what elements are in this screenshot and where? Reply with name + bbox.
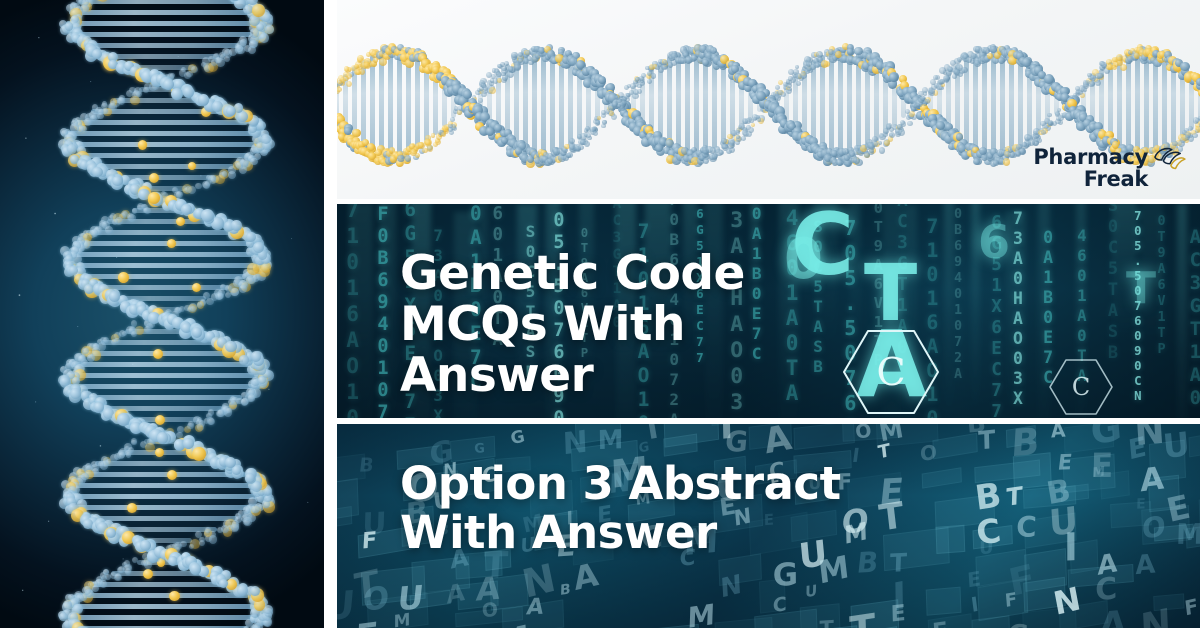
panel-dna-horizontal: Pharmacy Freak xyxy=(336,0,1200,200)
dna-helix-vertical xyxy=(0,0,324,628)
glyph-0: 0 xyxy=(784,227,823,292)
logo-line-1: Pharmacy xyxy=(1033,145,1148,169)
glyph-6: 6 xyxy=(978,215,1010,269)
gutter-vertical xyxy=(324,0,337,628)
logo-line-2: Freak xyxy=(1033,169,1148,190)
hex-badge-c-small[interactable]: C xyxy=(1048,358,1114,416)
pharmacy-freak-logo[interactable]: Pharmacy Freak xyxy=(1033,147,1186,190)
hex-badge-c-large[interactable]: C xyxy=(841,328,941,416)
headline-option3-abstract: Option 3 Abstract With Answer xyxy=(400,460,841,557)
panel-genetic-code: 71016AO107030F0B69401072A6G51X6EC7773A0H… xyxy=(336,203,1200,418)
logo-text: Pharmacy Freak xyxy=(1033,147,1148,190)
leaf-pills-mark-icon xyxy=(1152,145,1186,175)
hex-badge-c-small-label: C xyxy=(1072,373,1090,401)
panel-option3: OBGGGNMIIMTTUTFUMGONCMGGAOMABUTGOMMUBUNC… xyxy=(336,424,1200,628)
headline-genetic-code: Genetic Code MCQs With Answer xyxy=(400,249,745,401)
gutter-horizontal-top xyxy=(336,199,1200,204)
hex-badge-c-large-label: C xyxy=(876,350,905,394)
thumbnail-collage: Pharmacy Freak 71016AO107030F0B69401072A… xyxy=(0,0,1200,628)
panel-dna-vertical xyxy=(0,0,324,628)
glyph-T-right: T xyxy=(1126,263,1156,314)
gutter-horizontal-bottom xyxy=(336,418,1200,424)
